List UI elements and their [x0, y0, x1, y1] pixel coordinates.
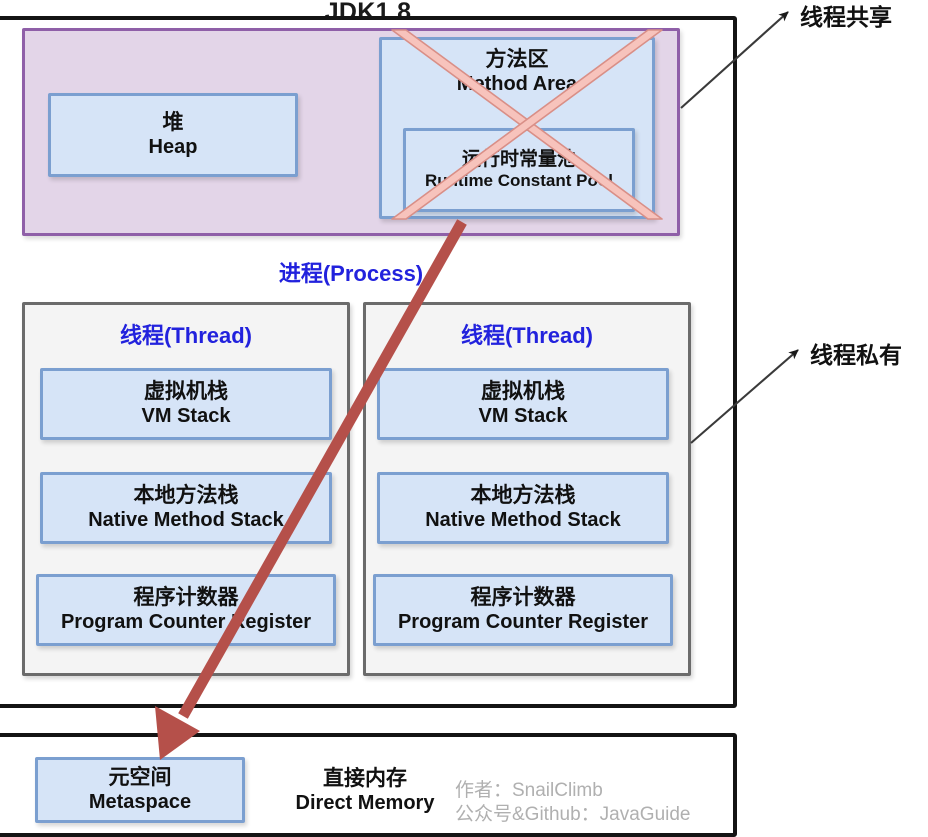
- program-counter-label-cn: 程序计数器: [471, 586, 576, 611]
- direct-memory-label: 直接内存 Direct Memory: [270, 760, 460, 822]
- vm-stack-label-en: VM Stack: [142, 405, 231, 429]
- runtime-constant-pool-label-cn: 运行时常量池: [462, 149, 576, 171]
- direct-memory-label-cn: 直接内存: [323, 767, 407, 792]
- thread-2-native-method-stack: 本地方法栈 Native Method Stack: [377, 472, 669, 544]
- heap-label-en: Heap: [149, 136, 198, 160]
- thread-1-vm-stack: 虚拟机栈 VM Stack: [40, 368, 332, 440]
- program-counter-label-en: Program Counter Register: [61, 611, 311, 635]
- program-counter-label-cn: 程序计数器: [134, 586, 239, 611]
- thread-shared-side-label: 线程共享: [800, 0, 892, 32]
- vm-stack-label-en: VM Stack: [479, 405, 568, 429]
- thread-private-side-label: 线程私有: [810, 336, 902, 370]
- heap-box: 堆 Heap: [48, 93, 298, 177]
- method-area-label-en: Method Area: [457, 73, 577, 97]
- metaspace-box: 元空间 Metaspace: [35, 757, 245, 823]
- runtime-constant-pool-box: 运行时常量池 Runtime Constant Pool: [403, 128, 635, 212]
- thread-1-program-counter-register: 程序计数器 Program Counter Register: [36, 574, 336, 646]
- credit-account: 公众号&Github：JavaGuide: [455, 803, 691, 827]
- thread-2-program-counter-register: 程序计数器 Program Counter Register: [373, 574, 673, 646]
- metaspace-label-cn: 元空间: [109, 766, 172, 791]
- native-method-stack-label-cn: 本地方法栈: [134, 484, 239, 509]
- native-method-stack-label-en: Native Method Stack: [425, 509, 621, 533]
- credit-author: 作者：SnailClimb: [455, 779, 603, 803]
- native-method-stack-label-cn: 本地方法栈: [471, 484, 576, 509]
- heap-label-cn: 堆: [163, 111, 184, 136]
- process-label: 进程(Process): [22, 256, 680, 288]
- vm-stack-label-cn: 虚拟机栈: [481, 380, 565, 405]
- thread-1-native-method-stack: 本地方法栈 Native Method Stack: [40, 472, 332, 544]
- native-method-stack-label-en: Native Method Stack: [88, 509, 284, 533]
- program-counter-label-en: Program Counter Register: [398, 611, 648, 635]
- vm-stack-label-cn: 虚拟机栈: [144, 380, 228, 405]
- runtime-constant-pool-label-en: Runtime Constant Pool: [425, 171, 613, 191]
- method-area-label-cn: 方法区: [486, 48, 549, 73]
- thread-label-2: 线程(Thread): [363, 318, 691, 350]
- jvm-memory-diagram: JDK1.8 堆 Heap 方法区 Method Area 运行时常量池 Run…: [0, 0, 928, 825]
- direct-memory-label-en: Direct Memory: [296, 792, 435, 816]
- metaspace-label-en: Metaspace: [89, 791, 191, 815]
- thread-2-vm-stack: 虚拟机栈 VM Stack: [377, 368, 669, 440]
- thread-label-1: 线程(Thread): [22, 318, 350, 350]
